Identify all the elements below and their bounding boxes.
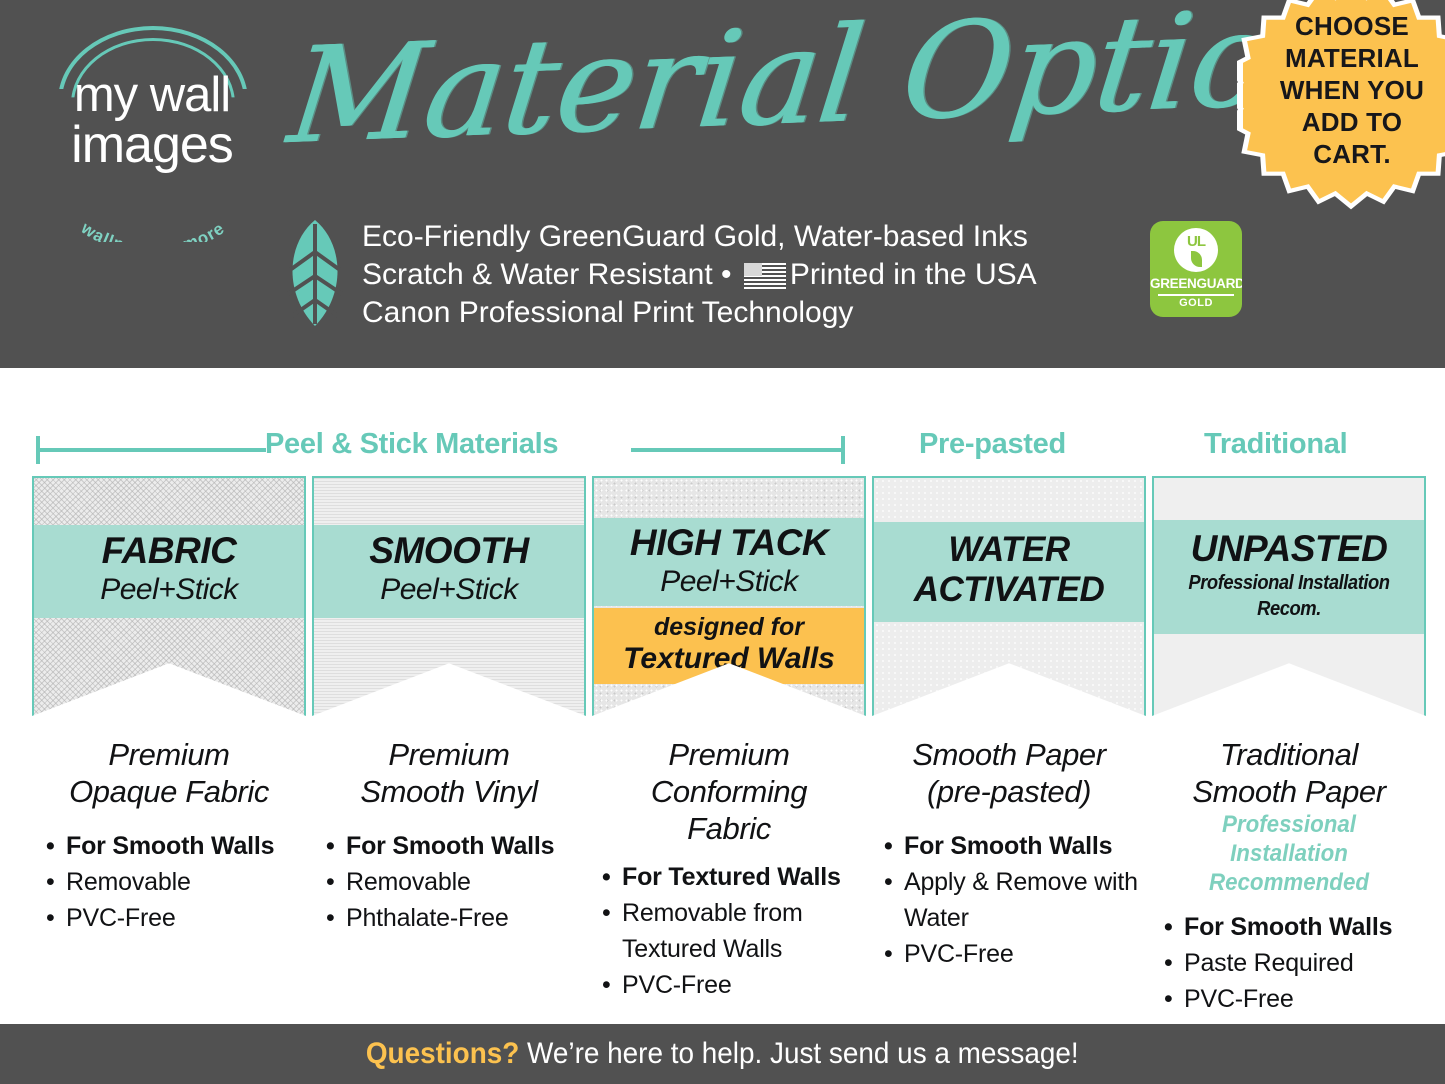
feature-item: For Textured Walls (602, 859, 866, 895)
feature-list: For Smooth Walls Removable PVC-Free (32, 828, 306, 936)
choose-material-badge: CHOOSE MATERIAL WHEN YOU ADD TO CART. (1237, 0, 1445, 210)
feature-item: Removable from Textured Walls (602, 895, 866, 967)
greenguard-level: GOLD (1150, 297, 1242, 309)
greenguard-seal-icon: UL (1174, 228, 1218, 272)
feature-item: For Smooth Walls (1164, 909, 1426, 945)
feature-item: Apply & Remove with Water (884, 864, 1146, 936)
banner-title: HIGH TACK (594, 522, 864, 564)
product-name: TraditionalSmooth Paper (1152, 736, 1426, 810)
feature-item: For Smooth Walls (326, 828, 586, 864)
feature-list: For Textured Walls Removable from Textur… (592, 859, 866, 1003)
banner-title: FABRIC (34, 530, 304, 572)
material-banner-water-activated: WATERACTIVATED (872, 476, 1146, 716)
material-column-smooth[interactable]: SMOOTH Peel+Stick PremiumSmooth Vinyl Fo… (312, 476, 586, 936)
feature-item: PVC-Free (46, 900, 306, 936)
banner-textured-walls-label: Textured Walls (594, 642, 864, 676)
materials-comparison: Peel & Stick Materials Pre-pasted Tradit… (0, 368, 1445, 1024)
logo-line-1: my wall (38, 70, 266, 120)
eco-claim-line-2-b: Printed in the USA (790, 258, 1037, 291)
material-column-high-tack[interactable]: HIGH TACK Peel+Stick designed for Textur… (592, 476, 866, 1003)
material-banner-unpasted: UNPASTED Professional Installation Recom… (1152, 476, 1426, 716)
eco-claim-line-1: Eco-Friendly GreenGuard Gold, Water-base… (362, 218, 1152, 256)
greenguard-divider (1158, 294, 1234, 296)
greenguard-gold-logo: UL GREENGUARD GOLD (1150, 221, 1242, 317)
brand-logo: my wall images wallpaper + more (38, 22, 266, 242)
banner-subtitle: Peel+Stick (594, 564, 864, 600)
footer-questions-label: Questions? (366, 1037, 519, 1070)
leaf-icon (278, 218, 352, 328)
peel-stick-bracket-rule-right (631, 448, 845, 452)
ul-mark: UL (1174, 233, 1218, 250)
group-header-pre-pasted: Pre-pasted (919, 428, 1066, 461)
logo-line-2: images (38, 118, 266, 172)
banner-textured-walls-band: designed for Textured Walls (594, 608, 864, 684)
feature-item: PVC-Free (1164, 981, 1426, 1017)
banner-designed-for-label: designed for (594, 612, 864, 642)
banner-label-band: SMOOTH Peel+Stick (314, 525, 584, 618)
material-banner-high-tack: HIGH TACK Peel+Stick designed for Textur… (592, 476, 866, 716)
header-banner: my wall images wallpaper + more Material… (0, 0, 1445, 368)
eco-claim-line-2: Scratch & Water Resistant • Prin (362, 256, 1152, 294)
badge-text: CHOOSE MATERIAL WHEN YOU ADD TO CART. (1267, 10, 1437, 170)
banner-label-band: FABRIC Peel+Stick (34, 525, 304, 618)
logo-tagline: wallpaper + more (77, 218, 228, 242)
logo-tagline-arc: wallpaper + more (44, 172, 262, 242)
banner-subtitle: Peel+Stick (314, 572, 584, 608)
product-name: Smooth Paper(pre-pasted) (872, 736, 1146, 810)
material-banner-smooth: SMOOTH Peel+Stick (312, 476, 586, 716)
material-column-unpasted[interactable]: UNPASTED Professional Installation Recom… (1152, 476, 1426, 1017)
group-header-peel-stick: Peel & Stick Materials (265, 428, 558, 461)
feature-item: PVC-Free (602, 967, 866, 1003)
feature-list: For Smooth Walls Paste Required PVC-Free (1152, 909, 1426, 1017)
banner-title: SMOOTH (314, 530, 584, 572)
feature-list: For Smooth Walls Apply & Remove with Wat… (872, 828, 1146, 972)
feature-item: PVC-Free (884, 936, 1146, 972)
feature-item: For Smooth Walls (884, 828, 1146, 864)
us-flag-icon (744, 263, 786, 289)
feature-item: Removable (326, 864, 586, 900)
material-banner-fabric: FABRIC Peel+Stick (32, 476, 306, 716)
greenguard-leaf-icon (1191, 251, 1202, 267)
banner-subtitle: Professional Installation Recom. (1165, 570, 1413, 622)
footer-bar: Questions? We’re here to help. Just send… (0, 1024, 1445, 1084)
feature-list: For Smooth Walls Removable Phthalate-Fre… (312, 828, 586, 936)
material-column-water-activated[interactable]: WATERACTIVATED Smooth Paper(pre-pasted) … (872, 476, 1146, 972)
material-options-infographic: my wall images wallpaper + more Material… (0, 0, 1445, 1084)
feature-item: Phthalate-Free (326, 900, 586, 936)
footer-message: Questions? We’re here to help. Just send… (366, 1037, 1079, 1071)
feature-item: For Smooth Walls (46, 828, 306, 864)
eco-claim-line-3: Canon Professional Print Technology (362, 294, 1152, 332)
svg-text:wallpaper + more: wallpaper + more (77, 218, 228, 242)
product-name: PremiumSmooth Vinyl (312, 736, 586, 810)
feature-item: Removable (46, 864, 306, 900)
eco-claim-line-2-a: Scratch & Water Resistant • (362, 258, 740, 291)
banner-label-band: HIGH TACK Peel+Stick (594, 518, 864, 606)
banner-subtitle: Peel+Stick (34, 572, 304, 608)
product-name: PremiumConformingFabric (592, 736, 866, 847)
eco-claims: Eco-Friendly GreenGuard Gold, Water-base… (362, 218, 1152, 332)
banner-title: WATERACTIVATED (874, 530, 1144, 610)
material-column-fabric[interactable]: FABRIC Peel+Stick PremiumOpaque Fabric F… (32, 476, 306, 936)
banner-label-band: UNPASTED Professional Installation Recom… (1154, 520, 1424, 634)
peel-stick-bracket-rule-left (36, 448, 266, 452)
peel-stick-bracket-cap-right (841, 436, 845, 464)
product-name: PremiumOpaque Fabric (32, 736, 306, 810)
feature-item: Paste Required (1164, 945, 1426, 981)
page-title: Material Options (279, 0, 1230, 192)
product-install-note: Professional InstallationRecommended (1162, 810, 1417, 897)
footer-help-text: We’re here to help. Just send us a messa… (520, 1037, 1079, 1070)
greenguard-name: GREENGUARD (1150, 276, 1242, 291)
banner-label-band: WATERACTIVATED (874, 522, 1144, 622)
group-header-traditional: Traditional (1204, 428, 1347, 461)
banner-title: UNPASTED (1154, 528, 1424, 570)
